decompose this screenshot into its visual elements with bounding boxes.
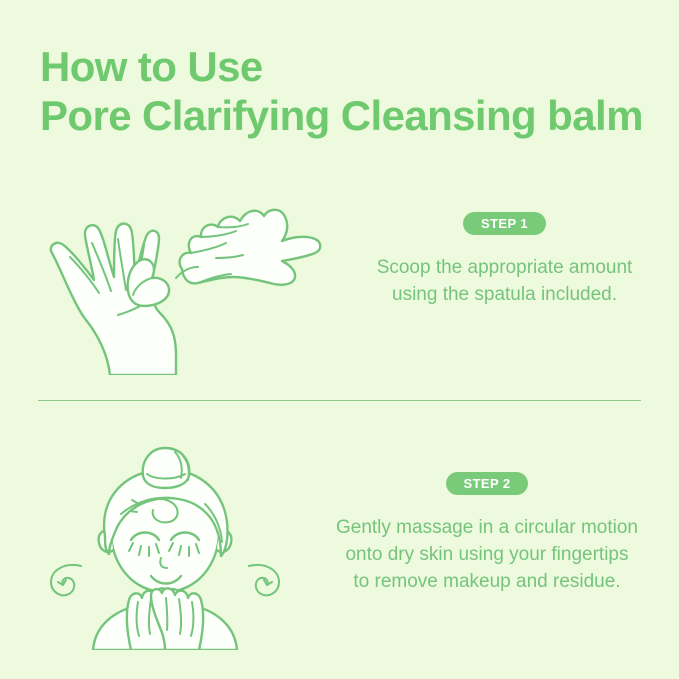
- how-to-use-infographic: How to Use Pore Clarifying Cleansing bal…: [0, 0, 679, 679]
- woman-massaging-face-illustration: [35, 440, 295, 650]
- step-2-text-line-1: Gently massage in a circular motion: [336, 514, 638, 541]
- step-1-text-line-1: Scoop the appropriate amount: [377, 254, 633, 281]
- step-1-description: Scoop the appropriate amount using the s…: [377, 254, 633, 308]
- step-2-text-line-2: onto dry skin using your fingertips: [336, 541, 638, 568]
- page-title: How to Use Pore Clarifying Cleansing bal…: [40, 42, 660, 140]
- page-title-line-2: Pore Clarifying Cleansing balm: [40, 91, 660, 140]
- step-2-copy: STEP 2 Gently massage in a circular moti…: [295, 440, 679, 595]
- step-2-section: STEP 2 Gently massage in a circular moti…: [0, 440, 679, 650]
- hands-scooping-balm-illustration: [30, 185, 330, 375]
- step-2-text-line-3: to remove makeup and residue.: [336, 568, 638, 595]
- page-title-line-1: How to Use: [40, 42, 660, 91]
- step-2-description: Gently massage in a circular motion onto…: [336, 514, 638, 595]
- step-1-badge: STEP 1: [463, 212, 546, 235]
- step-1-text-line-2: using the spatula included.: [377, 281, 633, 308]
- section-divider: [38, 400, 641, 401]
- step-1-copy: STEP 1 Scoop the appropriate amount usin…: [330, 185, 679, 308]
- step-1-section: STEP 1 Scoop the appropriate amount usin…: [0, 185, 679, 385]
- step-2-badge: STEP 2: [446, 472, 529, 495]
